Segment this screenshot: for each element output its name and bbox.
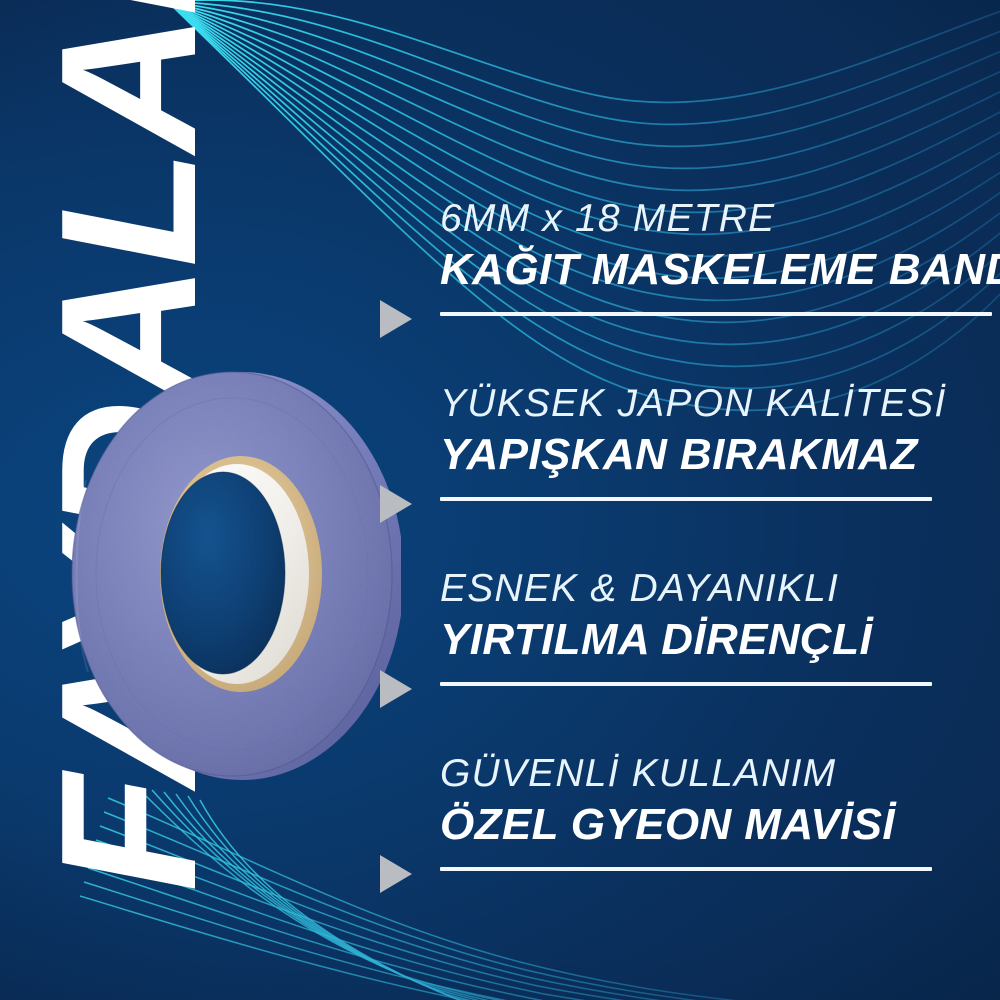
tape-roll-image bbox=[56, 360, 401, 800]
arrow-icon bbox=[378, 482, 414, 526]
feature-subtitle: GÜVENLİ KULLANIM bbox=[440, 751, 836, 797]
feature-item: GÜVENLİ KULLANIM ÖZEL GYEON MAVİSİ bbox=[372, 751, 1000, 916]
feature-subtitle: YÜKSEK JAPON KALİTESİ bbox=[440, 381, 946, 427]
feature-title: YAPIŞKAN BIRAKMAZ bbox=[440, 429, 918, 481]
feature-item: ESNEK & DAYANIKLI YIRTILMA DİRENÇLİ bbox=[372, 566, 1000, 731]
feature-subtitle: ESNEK & DAYANIKLI bbox=[440, 566, 839, 612]
feature-item: YÜKSEK JAPON KALİTESİ YAPIŞKAN BIRAKMAZ bbox=[372, 381, 1000, 546]
feature-underline bbox=[440, 867, 932, 871]
feature-title: ÖZEL GYEON MAVİSİ bbox=[440, 799, 895, 851]
feature-subtitle: 6MM x 18 METRE bbox=[440, 196, 775, 242]
arrow-icon bbox=[378, 852, 414, 896]
feature-title: YIRTILMA DİRENÇLİ bbox=[440, 614, 872, 666]
feature-underline bbox=[440, 312, 992, 316]
arrow-icon bbox=[378, 297, 414, 341]
feature-underline bbox=[440, 682, 932, 686]
feature-list: 6MM x 18 METRE KAĞIT MASKELEME BANDI YÜK… bbox=[372, 196, 1000, 916]
infographic-banner: FAYDALAR bbox=[0, 0, 1000, 1000]
feature-underline bbox=[440, 497, 932, 501]
arrow-icon bbox=[378, 667, 414, 711]
feature-item: 6MM x 18 METRE KAĞIT MASKELEME BANDI bbox=[372, 196, 1000, 361]
feature-title: KAĞIT MASKELEME BANDI bbox=[440, 244, 1000, 296]
